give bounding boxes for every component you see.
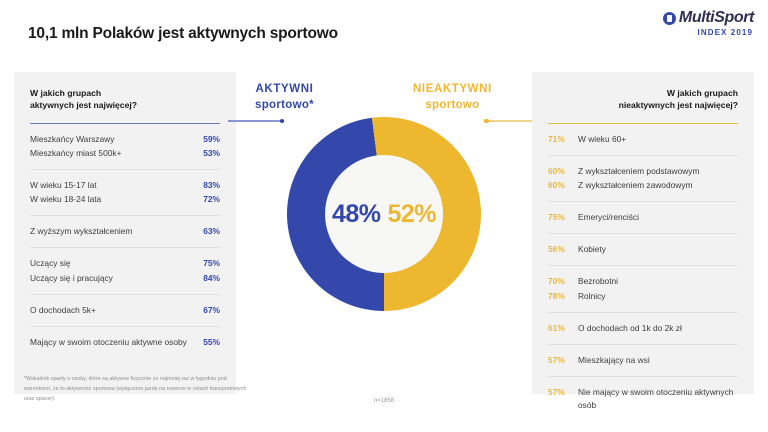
stat-label: Mieszkańcy Warszawy [30,133,195,146]
stat-value: 60% [548,179,578,192]
inactive-groups-panel: W jakich grupach nieaktywnych jest najwi… [532,72,754,394]
stat-value: 57% [548,386,578,399]
stat-value: 70% [548,275,578,288]
group-block: 61%O dochodach od 1k do 2k zł [548,313,738,345]
stat-value: 78% [548,290,578,303]
legend-inactive-line1: NIEAKTYWNI [413,82,492,98]
stat-value: 53% [203,147,220,160]
stat-row: 71%W wieku 60+ [548,133,738,146]
legend-inactive: NIEAKTYWNI sportowo [413,82,492,113]
active-heading-line1: W jakich grupach [30,87,220,99]
stat-row: 56%Kobiety [548,243,738,256]
stat-row: 75%Emeryci/renciści [548,211,738,224]
active-percent-value: 48% [332,200,381,229]
stat-label: Mieszkający na wsi [578,354,738,367]
stat-row: O dochodach 5k+67% [30,304,220,317]
stat-value: 59% [203,133,220,146]
stat-label: W wieku 15-17 lat [30,179,195,192]
stat-label: O dochodach 5k+ [30,304,195,317]
stat-row: 60%Z wykształceniem podstawowym [548,165,738,178]
stat-label: Kobiety [578,243,738,256]
stat-row: Uczący się75% [30,257,220,270]
connector-dot-active-icon [280,119,285,124]
donut-center: 48% 52% [325,155,443,273]
inactive-panel-heading: W jakich grupach nieaktywnych jest najwi… [532,72,754,112]
group-block: 75%Emeryci/renciści [548,202,738,234]
stat-row: Z wyższym wykształceniem63% [30,225,220,238]
group-block: Mieszkańcy Warszawy59%Mieszkańcy miast 5… [30,124,220,170]
brand-logo: MultiSport INDEX 2019 [663,9,754,37]
stat-value: 72% [203,193,220,206]
stat-label: Uczący się [30,257,195,270]
stat-label: Emeryci/renciści [578,211,738,224]
stat-value: 57% [548,354,578,367]
group-block: W wieku 15-17 lat83%W wieku 18-24 lata72… [30,170,220,216]
page-title: 10,1 mln Polaków jest aktywnych sportowo [28,25,338,43]
stat-value: 60% [548,165,578,178]
group-block: Mający w swoim otoczeniu aktywne osoby55… [30,327,220,358]
stat-label: O dochodach od 1k do 2k zł [578,322,738,335]
stat-value: 75% [203,257,220,270]
stat-row: Uczący się i pracujący84% [30,272,220,285]
stat-value: 61% [548,322,578,335]
active-panel-heading: W jakich grupach aktywnych jest najwięce… [14,72,236,112]
stat-row: 78%Rolnicy [548,290,738,303]
stat-label: W wieku 18-24 lata [30,193,195,206]
stat-row: 57%Mieszkający na wsi [548,354,738,367]
stat-label: Bezrobotni [578,275,738,288]
stat-label: Mieszkańcy miast 500k+ [30,147,195,160]
connector-dot-inactive-icon [484,119,489,124]
stat-label: Nie mający w swoim otoczeniu aktywnych o… [578,386,738,412]
stat-row: 61%O dochodach od 1k do 2k zł [548,322,738,335]
stat-row: 70%Bezrobotni [548,275,738,288]
inactive-heading-line2: nieaktywnych jest najwięcej? [548,99,738,111]
stat-row: W wieku 15-17 lat83% [30,179,220,192]
infographic-root: 10,1 mln Polaków jest aktywnych sportowo… [0,0,768,432]
stat-value: 56% [548,243,578,256]
stat-value: 75% [548,211,578,224]
stat-label: Z wyższym wykształceniem [30,225,195,238]
stat-row: 60%Z wykształceniem zawodowym [548,179,738,192]
stat-row: 57%Nie mający w swoim otoczeniu aktywnyc… [548,386,738,412]
footnote: *Wskaźnik oparty o osoby, które są aktyw… [24,374,249,404]
stat-label: Z wykształceniem podstawowym [578,165,738,178]
stat-row: Mieszkańcy miast 500k+53% [30,147,220,160]
inactive-percent-value: 52% [388,200,437,229]
group-block: 57%Nie mający w swoim otoczeniu aktywnyc… [548,377,738,421]
inactive-groups-list: 71%W wieku 60+60%Z wykształceniem podsta… [532,124,754,420]
stat-row: Mający w swoim otoczeniu aktywne osoby55… [30,336,220,349]
stat-label: Mający w swoim otoczeniu aktywne osoby [30,336,195,349]
legend-active-line2: sportowo* [255,98,314,114]
stat-value: 67% [203,304,220,317]
legend-active-line1: AKTYWNI [255,82,314,98]
group-block: 71%W wieku 60+ [548,124,738,156]
group-block: 70%Bezrobotni78%Rolnicy [548,266,738,312]
stat-row: Mieszkańcy Warszawy59% [30,133,220,146]
active-heading-line2: aktywnych jest najwięcej? [30,99,220,111]
stat-value: 83% [203,179,220,192]
stat-label: W wieku 60+ [578,133,738,146]
logo-wordmark: MultiSport [679,9,754,27]
group-block: 60%Z wykształceniem podstawowym60%Z wyks… [548,156,738,202]
connector-line-active [228,120,284,122]
stat-label: Z wykształceniem zawodowym [578,179,738,192]
group-block: 57%Mieszkający na wsi [548,345,738,377]
active-groups-panel: W jakich grupach aktywnych jest najwięce… [14,72,236,394]
stat-value: 63% [203,225,220,238]
legend-active: AKTYWNI sportowo* [255,82,314,113]
group-block: Z wyższym wykształceniem63% [30,216,220,248]
stat-value: 84% [203,272,220,285]
legend-inactive-line2: sportowo [413,98,492,114]
donut-chart: 48% 52% [287,117,481,311]
group-block: 56%Kobiety [548,234,738,266]
group-block: Uczący się75%Uczący się i pracujący84% [30,248,220,294]
logo-subtitle: INDEX 2019 [663,28,753,37]
active-groups-list: Mieszkańcy Warszawy59%Mieszkańcy miast 5… [14,124,236,357]
stat-value: 71% [548,133,578,146]
stat-label: Uczący się i pracujący [30,272,195,285]
group-block: O dochodach 5k+67% [30,295,220,327]
stat-row: W wieku 18-24 lata72% [30,193,220,206]
multisport-badge-icon [663,12,676,25]
stat-value: 55% [203,336,220,349]
inactive-heading-line1: W jakich grupach [548,87,738,99]
stat-label: Rolnicy [578,290,738,303]
